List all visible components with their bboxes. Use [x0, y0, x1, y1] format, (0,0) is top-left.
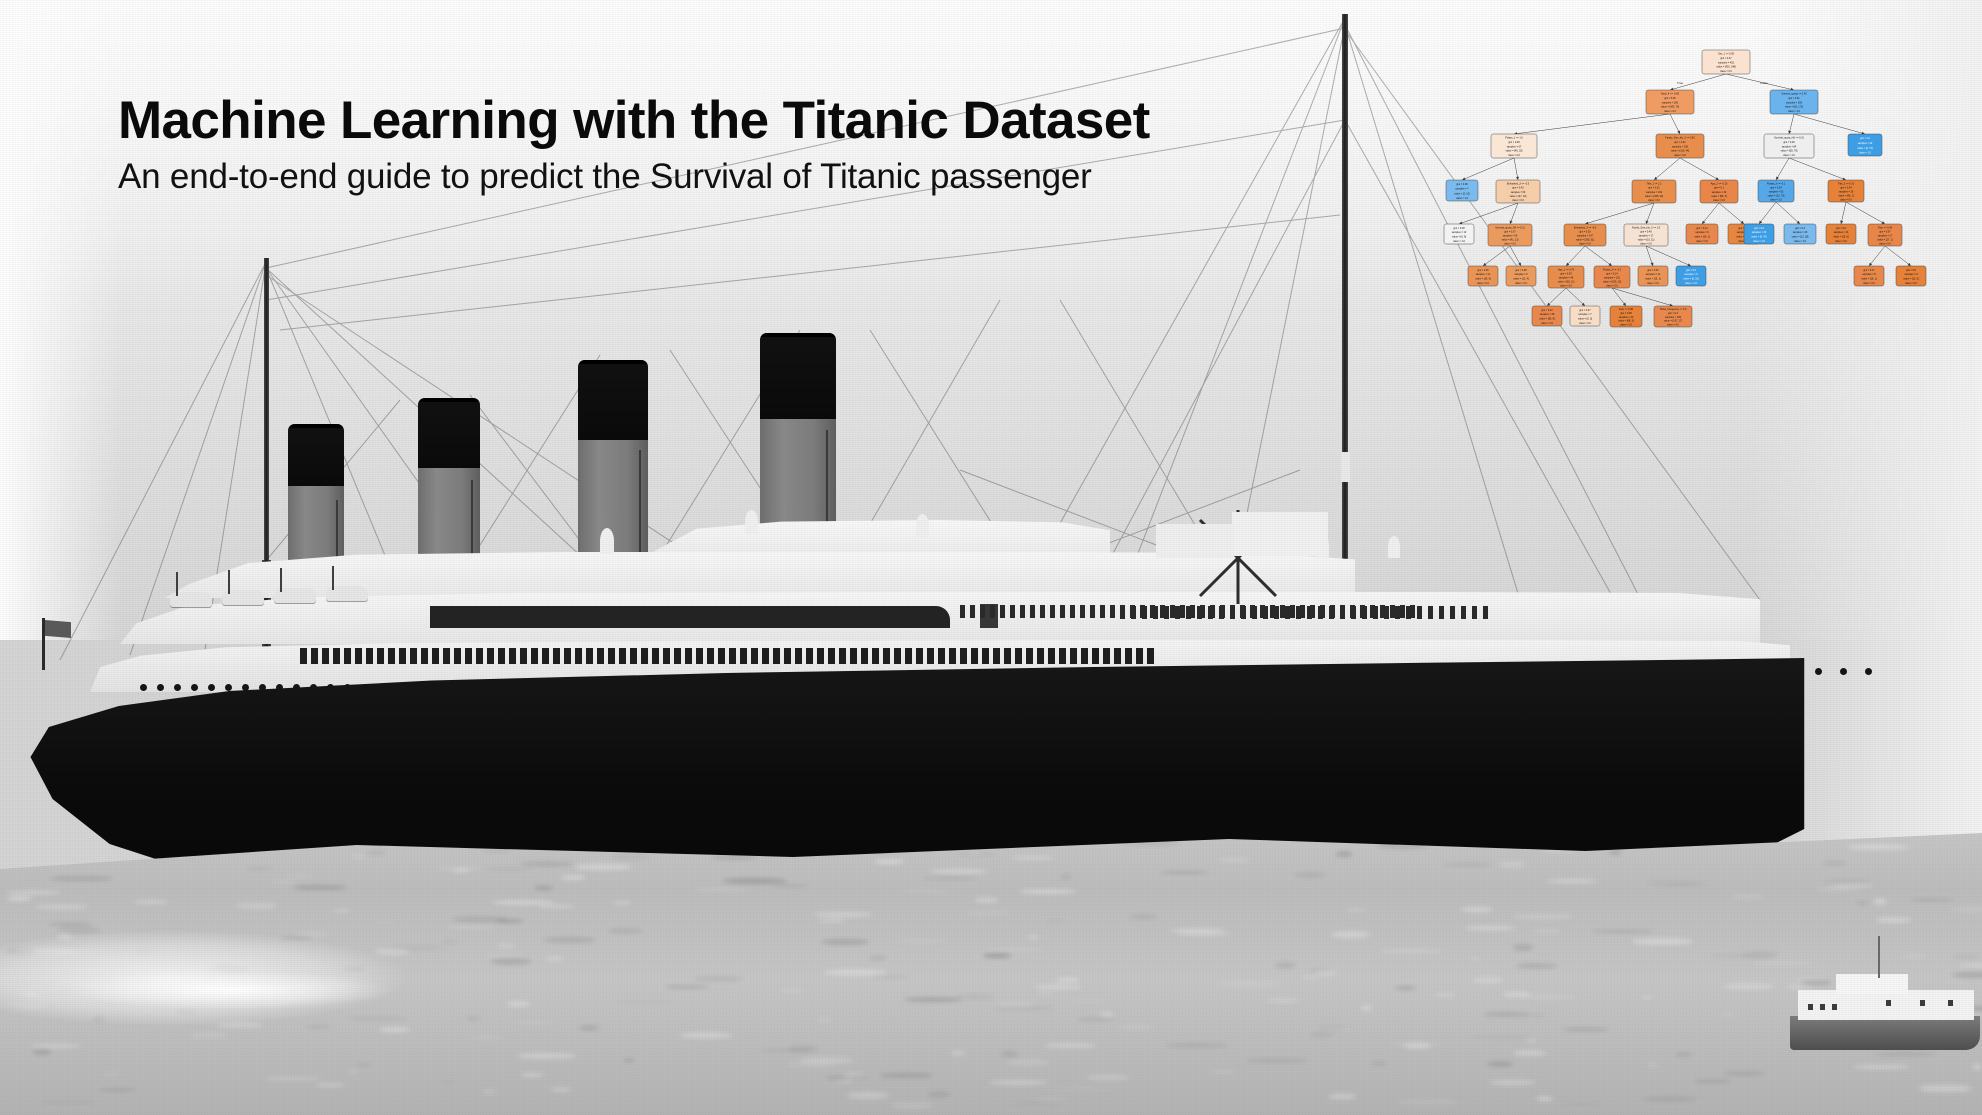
tree-edge-label-true: True	[1677, 81, 1683, 85]
tree-edge	[1483, 246, 1510, 266]
tree-node: Survivor_quota <= 2.42gini = 0.31samples…	[1770, 90, 1818, 114]
tree-node-line: samples = 29	[1839, 190, 1854, 193]
tree-node-line: samples = 55	[1769, 190, 1784, 193]
tree-node-line: value = [55, 8]	[1539, 318, 1555, 321]
window	[1125, 648, 1132, 664]
ensign-flag	[45, 620, 71, 638]
wave-crest	[1012, 856, 1054, 860]
tree-node: gini = 0.22samples = 39value = [55, 8]cl…	[1532, 306, 1562, 326]
wave-crest	[1464, 926, 1516, 930]
window	[421, 648, 428, 664]
tree-node-line: samples = 42	[1619, 316, 1634, 319]
tree-node-line: gini = 0.0	[1836, 227, 1847, 230]
wave-crest	[1380, 949, 1443, 953]
tree-node-line: samples = 17	[1878, 234, 1893, 237]
page-title: Machine Learning with the Titanic Datase…	[118, 92, 1150, 149]
tender-window	[1808, 1004, 1813, 1010]
wave-crest	[891, 1102, 933, 1109]
tree-node: Family_Size_bin_2 <= 0.82gini = 0.21samp…	[1656, 134, 1704, 158]
wave-crest	[561, 875, 586, 879]
window	[1070, 648, 1077, 664]
wave-crest	[834, 1080, 853, 1083]
wave-crest	[1336, 851, 1352, 857]
wave-crest	[1532, 930, 1560, 933]
tree-node-line: value = [12, 28]	[1792, 236, 1809, 239]
tree-node-line: value = [15, 0]	[1833, 236, 1849, 239]
window	[1037, 648, 1044, 664]
window	[707, 648, 714, 664]
window	[1147, 648, 1154, 664]
wave-crest	[551, 1088, 571, 1091]
wave-crest	[611, 853, 649, 859]
window	[1040, 605, 1045, 618]
wave-crest	[1324, 1028, 1350, 1030]
decision-tree-diagram: TrueFalseSex_1 <= 0.55gini = 0.47samples…	[1434, 34, 1974, 334]
window	[960, 648, 967, 664]
tree-node-line: Family_Size_bin_3 <= 1.0	[1632, 226, 1661, 229]
tree-node: Embarked_3 <= -0.5gini = 0.43samples = 6…	[1496, 180, 1540, 203]
window	[1092, 648, 1099, 664]
tree-node-line: samples = 11	[1646, 273, 1661, 276]
tree-node-line: value = [68, 3]	[1618, 320, 1634, 323]
window	[949, 648, 956, 664]
tree-node: gini = 0.12samples = 9value = [14, 1]cla…	[1686, 224, 1718, 244]
wave-crest	[1052, 1088, 1114, 1091]
wave-crest	[1950, 906, 1982, 913]
tree-node-line: gini = 0.34	[1770, 186, 1782, 189]
wave-crest	[49, 876, 113, 881]
tree-node-line: Family_Size_bin_2 <= 0.82	[1665, 137, 1695, 140]
tree-edge-arrow	[1869, 263, 1872, 266]
tree-node-line: samples = 8	[1862, 273, 1876, 276]
window	[1000, 605, 1005, 618]
wave-crest	[265, 1076, 321, 1081]
tree-edge	[1585, 246, 1612, 266]
tree-node-line: gini = 0.37	[1504, 230, 1516, 233]
wave-crest	[1919, 1085, 1971, 1091]
tree-node-line: value = [60, 11]	[1558, 280, 1575, 283]
wave-crest	[984, 948, 1042, 951]
ventilator	[916, 514, 929, 538]
window	[1100, 605, 1105, 618]
tender-bridge	[1836, 974, 1908, 994]
window	[333, 648, 340, 664]
tree-edge	[1514, 114, 1670, 134]
tree-node-line: gini = 0.31	[1788, 97, 1800, 100]
tree-edge-arrow	[1516, 177, 1519, 180]
decision-tree-svg: TrueFalseSex_1 <= 0.55gini = 0.47samples…	[1434, 34, 1974, 334]
tree-node-line: class = 0.0	[1647, 282, 1659, 285]
window	[1153, 606, 1158, 619]
wave-crest	[236, 903, 277, 908]
window	[894, 648, 901, 664]
tree-node-line: gini = 0.08	[1620, 312, 1632, 315]
tree-node-line: class = 1.0	[1685, 282, 1697, 285]
tree-node-line: Title_2 <= 0.71	[1838, 182, 1855, 185]
tender-window	[1886, 1000, 1891, 1006]
wave-crest	[1644, 1096, 1696, 1102]
davit	[228, 570, 230, 594]
wave-crest	[1609, 850, 1621, 855]
wave-crest	[36, 905, 87, 909]
tree-node-line: Fare <= 0.36	[1878, 226, 1893, 229]
wave-crest	[1490, 1080, 1536, 1085]
tree-node-line: class = 0.0	[1863, 282, 1875, 285]
window	[443, 648, 450, 664]
wave-crest	[614, 1001, 674, 1003]
tree-edge-arrow	[1623, 303, 1626, 306]
wave-crest	[442, 1081, 455, 1083]
tree-node-line: value = [55, 172]	[1785, 106, 1803, 109]
wave-crest	[1653, 884, 1710, 886]
window	[619, 648, 626, 664]
wave-crest	[904, 997, 963, 1003]
window	[575, 648, 582, 664]
tree-node-line: value = [0, 75]	[1857, 147, 1873, 150]
wave-crest	[1007, 1059, 1049, 1066]
wave-crest	[521, 1073, 544, 1078]
tree-node-line: value = [12, 75]	[1768, 194, 1785, 197]
tree-node-line: samples = 147	[1577, 234, 1594, 237]
wave-crest	[1829, 883, 1874, 888]
tree-node-line: Survival_quota_NA <= 0.31	[1774, 137, 1804, 140]
ventilator	[600, 528, 614, 554]
window	[960, 605, 965, 618]
davit	[280, 568, 282, 592]
porthole	[140, 684, 147, 691]
wave-crest	[817, 1019, 832, 1021]
tree-node-line: gini = 0.21	[1674, 141, 1686, 144]
tree-node-line: value = [0, 10]	[1683, 278, 1699, 281]
wave-crest	[293, 885, 347, 891]
wave-crest	[1642, 996, 1653, 999]
tree-node: gini = 0.36samples = 21value = [29, 9]cl…	[1468, 266, 1498, 286]
wave-crest	[1087, 1075, 1129, 1080]
title-block: Machine Learning with the Titanic Datase…	[118, 92, 1150, 196]
tree-edge	[1846, 202, 1885, 224]
tree-node-line: gini = 0.19	[1579, 230, 1591, 233]
tree-node: gini = 0.4samples = 26value = [12, 28]cl…	[1784, 224, 1816, 244]
tree-edge	[1547, 288, 1566, 306]
wave-crest	[930, 869, 988, 874]
tree-node: Title_1 <= 2.2gini = 0.21samples = 164va…	[1632, 180, 1676, 203]
wave-crest	[446, 925, 496, 929]
wave-crest	[1100, 1011, 1114, 1018]
window	[850, 648, 857, 664]
wave-crest	[1443, 863, 1491, 866]
wave-crest	[1563, 1028, 1609, 1031]
window	[971, 648, 978, 664]
window	[1020, 605, 1025, 618]
window	[1142, 606, 1147, 619]
tree-edge-label-false: False	[1760, 81, 1768, 85]
tree-node-line: samples = 32	[1712, 191, 1727, 194]
wave-crest	[1077, 1018, 1114, 1021]
tree-node-line: samples = 159	[1786, 101, 1803, 104]
tree-node: gini = 0.38samples = 9value = [12, 4]cla…	[1506, 266, 1536, 286]
wave-crest	[723, 878, 787, 884]
wave-crest	[821, 939, 869, 945]
tree-node-line: class = 0.0	[1879, 242, 1891, 245]
wave-crest	[367, 850, 386, 855]
wave-crest	[1461, 907, 1493, 912]
window	[1048, 648, 1055, 664]
tree-node: Survival_quota_NA <= 0.11gini = 0.37samp…	[1488, 224, 1532, 246]
wave-crest	[1217, 981, 1281, 987]
tree-edge	[1719, 203, 1744, 224]
tree-node-line: samples = 9	[1514, 273, 1528, 276]
wave-crest	[534, 886, 552, 890]
tree-node-line: gini = 0.21	[1648, 187, 1660, 190]
tree-node: gini = 0.0samples = 9value = [12, 0]clas…	[1896, 266, 1926, 286]
tree-edge	[1459, 203, 1518, 224]
tree-node-line: value = [265, 31]	[1576, 238, 1594, 241]
tree-node-line: value = [268, 40]	[1645, 195, 1663, 198]
tree-node-line: class = 1.0	[1453, 240, 1465, 243]
wave-crest	[316, 1083, 345, 1087]
window	[1164, 606, 1169, 619]
tree-node-line: gini = 0.04	[1840, 186, 1852, 189]
wave-crest	[1035, 985, 1082, 989]
window	[1004, 648, 1011, 664]
window	[1081, 648, 1088, 664]
tree-node-line: gini = 0.22	[1541, 309, 1553, 312]
tree-node-line: class = 0.0	[1579, 242, 1591, 245]
wave-crest	[874, 859, 904, 864]
main-mast-crow-nest	[1341, 452, 1350, 482]
tree-node-line: class = 0.0	[1648, 199, 1660, 202]
tree-node: gini = 0.28samples = 7value = [2, 10]cla…	[1446, 180, 1478, 201]
tree-node-line: samples = 50	[1503, 234, 1518, 237]
wave-crest	[1361, 1005, 1372, 1011]
tree-node-line: gini = 0.28	[1456, 183, 1468, 186]
wave-crest	[1526, 1039, 1537, 1042]
tree-node-line: samples = 60	[1511, 191, 1526, 194]
tree-node-line: gini = 0.49	[1640, 230, 1652, 233]
promenade-glass-band	[430, 606, 950, 628]
wave-crest	[1647, 1063, 1658, 1068]
wave-crest	[134, 900, 168, 903]
tree-node: gini = 0.48samples = 10value = [6, 9]cla…	[1444, 224, 1474, 244]
window	[1015, 648, 1022, 664]
tree-node-line: Fare <= 0.36	[1619, 308, 1634, 311]
tree-edge	[1794, 114, 1865, 134]
wave-crest	[680, 1033, 733, 1038]
wave-crest	[1209, 1071, 1236, 1073]
wave-crest	[1045, 1043, 1097, 1048]
tree-node-line: gini = 0.0	[1754, 227, 1765, 230]
window	[1059, 648, 1066, 664]
wave-crest	[1470, 958, 1482, 960]
tree-node: gini = 0.47samples = 7value = [5, 3]clas…	[1570, 306, 1600, 326]
porthole	[225, 684, 232, 691]
tree-node-line: Survival_quota_NA <= 0.11	[1495, 226, 1525, 229]
window	[740, 648, 747, 664]
wave-crest	[1524, 1014, 1545, 1016]
wave-crest	[1435, 994, 1457, 997]
tree-node-line: gini = 0.29	[1560, 272, 1572, 275]
tree-node-line: Embarked_3 <= -0.5	[1507, 183, 1530, 186]
wave-crest	[1499, 861, 1525, 868]
tree-node-line: samples = 84	[1782, 145, 1797, 148]
slide-canvas: Machine Learning with the Titanic Datase…	[0, 0, 1982, 1115]
tree-node-line: class = 0.0	[1606, 284, 1618, 287]
flag-staff	[42, 618, 45, 670]
window	[828, 648, 835, 664]
wave-crest	[1010, 1102, 1062, 1105]
tree-node-line: samples = 10	[1452, 231, 1467, 234]
tree-edge	[1670, 114, 1680, 134]
wave-crest	[41, 1101, 95, 1103]
wave-crest	[520, 861, 575, 867]
window	[806, 648, 813, 664]
tree-node: Pclass_3 <= -0.1gini = 0.34samples = 55v…	[1758, 180, 1794, 202]
wave-crest	[1853, 1065, 1908, 1070]
wave-crest	[1722, 1012, 1733, 1018]
wave-crest	[1732, 894, 1764, 899]
davit	[176, 572, 178, 596]
wave-crest	[1160, 871, 1209, 874]
wave-crest	[1473, 977, 1504, 983]
window	[718, 648, 725, 664]
tree-node-line: value = [316, 44]	[1671, 150, 1689, 153]
window	[1110, 605, 1115, 618]
wave-crest	[1910, 899, 1955, 902]
tree-node: gini = 0.17samples = 8value = [16, 1]cla…	[1854, 266, 1884, 286]
window	[905, 648, 912, 664]
window	[509, 648, 516, 664]
tree-node-line: gini = 0.0	[1860, 137, 1871, 140]
wave-crest	[814, 912, 872, 917]
window	[993, 648, 1000, 664]
tree-node-line: gini = 0.4	[1795, 227, 1806, 230]
tree-node-line: gini = 0.1	[1714, 187, 1725, 190]
tree-node: Ticket_Frequency <= 3.0gini = 0.2samples…	[1654, 306, 1692, 327]
wave-crest	[1300, 975, 1318, 979]
tree-edge	[1789, 158, 1846, 180]
window	[454, 648, 461, 664]
window	[1050, 605, 1055, 618]
wave-crest	[1632, 938, 1693, 944]
tree-node-line: samples = 29	[1752, 231, 1767, 234]
tree-node-line: class = 0.0	[1515, 282, 1527, 285]
window	[1010, 605, 1015, 618]
wave-crest	[1561, 1103, 1604, 1105]
window	[476, 648, 483, 664]
tree-node-line: class = 0.0	[1840, 198, 1852, 201]
wave-crest	[1487, 1061, 1513, 1067]
tree-node-line: class = 1.0	[1859, 152, 1871, 155]
tree-node-line: class = 0.0	[1674, 154, 1686, 157]
wave-crest	[665, 985, 709, 989]
hull-name-lettering	[1345, 735, 1515, 751]
window	[773, 648, 780, 664]
wave-crest	[1547, 879, 1597, 883]
tree-node-line: gini = 0.12	[1696, 227, 1708, 230]
tree-node: Embarked_3 <= -0.6gini = 0.19samples = 1…	[1564, 224, 1606, 246]
wave-crest	[824, 969, 887, 975]
tree-node-line: class = 0.0	[1664, 110, 1676, 113]
tree-node-line: gini = 0.36	[1477, 269, 1489, 272]
tree-node-line: class = 0.0	[1512, 199, 1524, 202]
tender-window	[1948, 1000, 1953, 1006]
tree-edge-arrow	[1776, 176, 1779, 180]
wave-crest	[1001, 1051, 1018, 1057]
tree-node-line: samples = 49	[1858, 142, 1873, 145]
tree-node-line: value = [137, 17]	[1664, 320, 1682, 323]
wave-crest	[1395, 986, 1416, 990]
wave-crest	[1246, 1059, 1308, 1061]
wave-crest	[1876, 917, 1911, 922]
wave-crest	[579, 1025, 599, 1031]
tree-node-line: class = 0.0	[1508, 154, 1520, 157]
tree-node-line: samples = 164	[1646, 191, 1663, 194]
wave-crest	[1310, 1032, 1333, 1038]
tree-node: Pclass_3 <= -0.1gini = 0.14samples = 151…	[1594, 266, 1630, 288]
tree-node-line: gini = 0.2	[1668, 312, 1679, 315]
wave-crest	[957, 994, 994, 1000]
tree-node-line: samples = 236	[1672, 145, 1689, 148]
tree-node-line: Embarked_3 <= -0.6	[1574, 226, 1597, 229]
tree-edge	[1759, 202, 1776, 224]
porthole	[242, 684, 249, 691]
tree-node-line: samples = 7	[1578, 313, 1592, 316]
aft-deckhouse-2	[1156, 524, 1234, 558]
wave-crest	[1873, 898, 1888, 905]
tree-node-line: value = [56, 3]	[1711, 195, 1727, 198]
window	[498, 648, 505, 664]
window	[795, 648, 802, 664]
tree-node-line: samples = 7	[1455, 188, 1469, 191]
tree-node-line: class = 0.0	[1720, 70, 1732, 73]
wave-crest	[1822, 861, 1847, 866]
tree-node-line: value = [29, 9]	[1475, 278, 1491, 281]
wave-crest	[517, 1053, 575, 1059]
window	[399, 648, 406, 664]
tree-node-line: value = [0, 47]	[1751, 236, 1767, 239]
tree-node-line: value = [55, 76]	[1781, 150, 1798, 153]
window	[1090, 605, 1095, 618]
davit	[332, 566, 334, 590]
tree-node-line: value = [43, 1]	[1838, 194, 1854, 197]
window	[432, 648, 439, 664]
tree-node-line: Deck_4 <= -0.65	[1661, 93, 1680, 96]
wave-crest	[1675, 1053, 1692, 1056]
window	[674, 648, 681, 664]
tree-edge-arrow	[1483, 263, 1486, 266]
wave-crest	[1513, 1050, 1546, 1056]
wave-crest	[1592, 930, 1653, 932]
wave-crest	[1742, 951, 1779, 958]
wave-crest	[1483, 1012, 1529, 1017]
tree-node-line: class = 1.0	[1753, 240, 1765, 243]
wave-crest	[486, 868, 535, 870]
tree-node: Title_2 <= 0.71gini = 0.04samples = 29va…	[1828, 180, 1864, 202]
tree-node: gini = 0.32samples = 11value = [15, 1]cl…	[1638, 266, 1668, 286]
wave-crest	[1166, 1043, 1227, 1048]
window	[311, 648, 318, 664]
window-row-shelter	[300, 648, 1154, 664]
tree-node-line: samples = 9	[1695, 231, 1709, 234]
tree-edge	[1654, 158, 1680, 180]
wave-crest	[245, 867, 274, 870]
tree-node-line: class = 0.0	[1640, 242, 1652, 245]
tender-boat	[1790, 955, 1980, 1050]
wave-crest	[332, 909, 351, 912]
window	[388, 648, 395, 664]
window	[927, 648, 934, 664]
tree-node-line: value = [12, 0]	[1903, 278, 1919, 281]
